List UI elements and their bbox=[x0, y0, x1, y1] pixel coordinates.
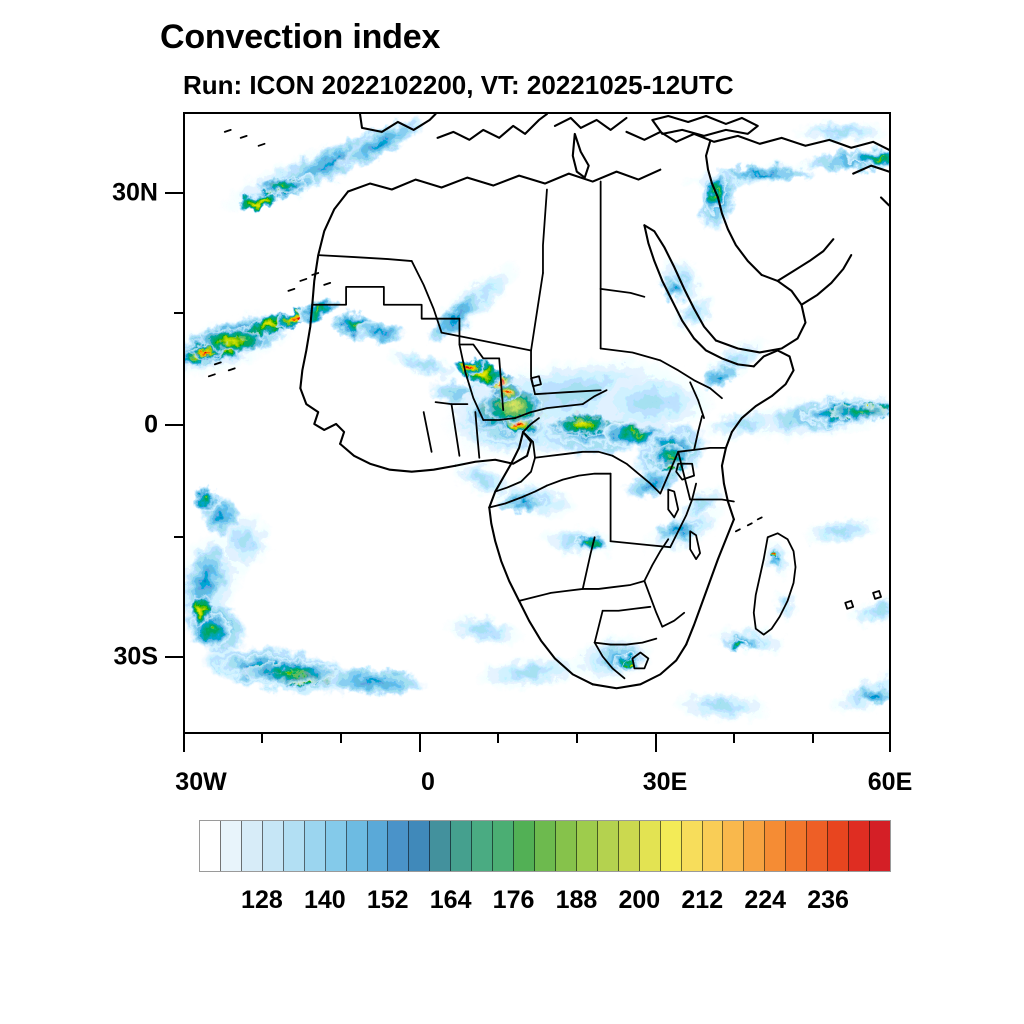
colorbar-cell bbox=[765, 821, 786, 871]
colorbar-cell bbox=[786, 821, 807, 871]
y-tick-15N bbox=[174, 312, 183, 314]
colorbar-cell bbox=[451, 821, 472, 871]
x-tick-30W bbox=[183, 734, 185, 752]
colorbar-cell bbox=[221, 821, 242, 871]
x-tick-10W bbox=[340, 734, 342, 743]
colorbar-cell bbox=[388, 821, 409, 871]
colorbar-cell bbox=[703, 821, 724, 871]
y-tick-label-30S: 30S bbox=[100, 643, 158, 672]
colorbar-cell bbox=[849, 821, 870, 871]
x-tick-label-0: 0 bbox=[421, 768, 435, 797]
y-tick-30N bbox=[165, 192, 183, 194]
colorbar-cell bbox=[828, 821, 849, 871]
colorbar-cell bbox=[870, 821, 890, 871]
colorbar-cell bbox=[514, 821, 535, 871]
colorbar-tick-label: 140 bbox=[304, 886, 346, 915]
y-tick-label-30N: 30N bbox=[100, 179, 158, 208]
x-tick-20E bbox=[576, 734, 578, 743]
x-tick-label-30E: 30E bbox=[643, 768, 687, 797]
colorbar-cell bbox=[535, 821, 556, 871]
y-tick-30S bbox=[165, 656, 183, 658]
colorbar-cell bbox=[577, 821, 598, 871]
colorbar-cell bbox=[682, 821, 703, 871]
x-tick-0 bbox=[419, 734, 421, 752]
colorbar-cell bbox=[284, 821, 305, 871]
colorbar bbox=[199, 820, 891, 872]
colorbar-cell bbox=[368, 821, 389, 871]
colorbar-cell bbox=[326, 821, 347, 871]
colorbar-cell bbox=[409, 821, 430, 871]
colorbar-cell bbox=[640, 821, 661, 871]
colorbar-cell bbox=[305, 821, 326, 871]
x-tick-10E bbox=[497, 734, 499, 743]
colorbar-cell bbox=[661, 821, 682, 871]
map-field-and-coastlines bbox=[185, 114, 889, 732]
colorbar-tick-label: 200 bbox=[619, 886, 661, 915]
y-tick-15S bbox=[174, 536, 183, 538]
colorbar-cell bbox=[807, 821, 828, 871]
x-tick-20W bbox=[261, 734, 263, 743]
colorbar-tick-label: 224 bbox=[744, 886, 786, 915]
y-tick-label-0: 0 bbox=[100, 411, 158, 440]
colorbar-cell bbox=[619, 821, 640, 871]
x-tick-50E bbox=[812, 734, 814, 743]
colorbar-cell bbox=[242, 821, 263, 871]
colorbar-tick-label: 164 bbox=[430, 886, 472, 915]
run-valid-time-subtitle: Run: ICON 2022102200, VT: 20221025-12UTC bbox=[183, 70, 734, 101]
colorbar-tick-label: 188 bbox=[556, 886, 598, 915]
colorbar-cell bbox=[556, 821, 577, 871]
colorbar-tick-label: 212 bbox=[681, 886, 723, 915]
figure-canvas: Convection index Run: ICON 2022102200, V… bbox=[0, 0, 1024, 1024]
x-tick-40E bbox=[733, 734, 735, 743]
x-tick-label-60E: 60E bbox=[868, 768, 912, 797]
x-tick-60E bbox=[889, 734, 891, 752]
colorbar-cell bbox=[723, 821, 744, 871]
y-tick-0 bbox=[165, 424, 183, 426]
colorbar-cell bbox=[200, 821, 221, 871]
colorbar-tick-label: 176 bbox=[493, 886, 535, 915]
colorbar-tick-label: 236 bbox=[807, 886, 849, 915]
colorbar-cell bbox=[430, 821, 451, 871]
x-tick-30E bbox=[655, 734, 657, 752]
colorbar-tick-label: 152 bbox=[367, 886, 409, 915]
x-tick-label-30W: 30W bbox=[175, 768, 226, 797]
page-title: Convection index bbox=[160, 18, 440, 57]
colorbar-cell bbox=[493, 821, 514, 871]
map-plot-area bbox=[183, 112, 891, 734]
colorbar-cell bbox=[598, 821, 619, 871]
colorbar-cell bbox=[472, 821, 493, 871]
colorbar-cell bbox=[347, 821, 368, 871]
colorbar-tick-label: 128 bbox=[241, 886, 283, 915]
colorbar-cell bbox=[263, 821, 284, 871]
colorbar-cell bbox=[744, 821, 765, 871]
